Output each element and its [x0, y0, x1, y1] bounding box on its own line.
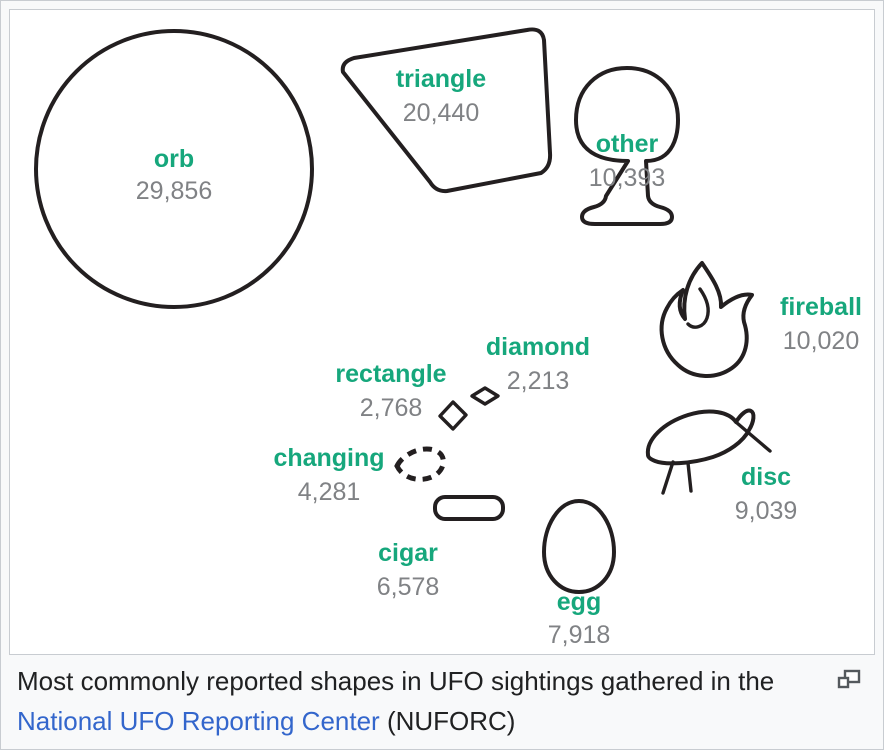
changing-label: changing: [273, 444, 384, 472]
cigar-value: 6,578: [377, 573, 440, 601]
saucer-leg-right-icon: [688, 463, 691, 491]
enlarge-icon-svg: [837, 669, 861, 691]
saucer-leg-left-icon: [663, 462, 673, 493]
egg-outline-icon: [544, 501, 614, 592]
egg-label: egg: [557, 588, 601, 616]
orb-label: orb: [154, 145, 194, 173]
other-label: other: [596, 130, 659, 158]
tilted-rectangle-icon: [440, 402, 466, 429]
dashed-lens-icon: [397, 449, 443, 479]
shape-disc: disc 9,039: [648, 411, 797, 525]
saucer-body-icon: [648, 411, 754, 464]
shape-other: other 10,393: [576, 68, 678, 224]
nuforc-link[interactable]: National UFO Reporting Center: [17, 706, 380, 736]
enlarge-icon-small-rect: [839, 678, 848, 687]
triangle-label: triangle: [396, 65, 486, 93]
orb-value: 29,856: [136, 177, 212, 205]
shape-triangle: triangle 20,440: [343, 29, 550, 191]
shape-fireball: fireball 10,020: [662, 263, 862, 376]
image-thumbnail-frame: orb 29,856 triangle 20,440 other 10,393 …: [0, 0, 884, 750]
shape-cigar: cigar 6,578: [377, 497, 503, 601]
diamond-label: diamond: [486, 333, 590, 361]
flame-inner-icon: [688, 289, 708, 327]
shape-orb: orb 29,856: [36, 31, 312, 307]
figure-caption: Most commonly reported shapes in UFO sig…: [17, 661, 807, 741]
infographic-image[interactable]: orb 29,856 triangle 20,440 other 10,393 …: [9, 9, 875, 655]
fireball-label: fireball: [780, 293, 862, 321]
disc-label: disc: [741, 463, 791, 491]
disc-value: 9,039: [735, 497, 798, 525]
caption-text-before: Most commonly reported shapes in UFO sig…: [17, 666, 774, 696]
cigar-label: cigar: [378, 539, 438, 567]
triangle-value: 20,440: [403, 99, 479, 127]
shape-changing: changing 4,281: [273, 444, 443, 506]
ufo-shapes-figure: orb 29,856 triangle 20,440 other 10,393 …: [10, 10, 874, 654]
shape-rectangle: rectangle 2,768: [335, 360, 466, 429]
other-value: 10,393: [589, 164, 665, 192]
enlarge-icon[interactable]: [837, 669, 861, 691]
rectangle-value: 2,768: [360, 394, 423, 422]
shape-egg: egg 7,918: [544, 501, 614, 649]
fireball-value: 10,020: [783, 327, 859, 355]
flat-diamond-icon: [472, 388, 498, 404]
egg-value: 7,918: [548, 621, 611, 649]
changing-value: 4,281: [298, 478, 361, 506]
figure-caption-area: Most commonly reported shapes in UFO sig…: [9, 661, 879, 749]
shape-diamond: diamond 2,213: [472, 333, 590, 404]
cigar-outline-icon: [435, 497, 503, 519]
rectangle-label: rectangle: [335, 360, 446, 388]
diamond-value: 2,213: [507, 367, 570, 395]
caption-text-after: (NUFORC): [380, 706, 516, 736]
